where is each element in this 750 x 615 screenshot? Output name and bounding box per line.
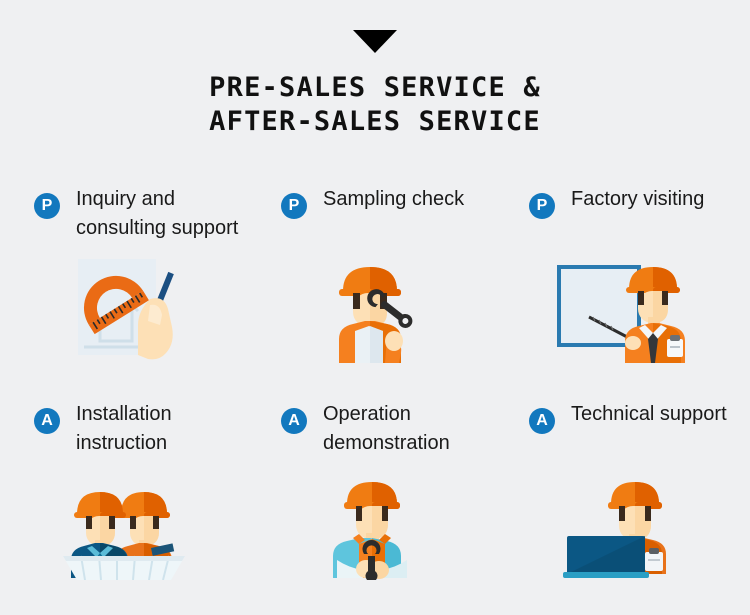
worker-laptop-icon [496, 470, 750, 590]
two-workers-blueprint-icon [0, 470, 248, 590]
triangle-down-icon [353, 30, 397, 53]
page-title-line-1: PRE-SALES SERVICE & [0, 71, 750, 105]
service-label: Factory visiting [571, 185, 704, 214]
status-badge: A [529, 408, 555, 434]
service-item-technical-support[interactable]: A Technical support [496, 400, 750, 600]
status-badge: A [281, 408, 307, 434]
service-item-operation-demonstration[interactable]: A Operation demonstration [248, 400, 496, 600]
page-title-line-2: AFTER-SALES SERVICE [0, 105, 750, 139]
service-item-factory-visiting[interactable]: P Factory visiting [496, 185, 750, 400]
worker-overalls-wrench-icon [248, 470, 496, 590]
service-label: Sampling check [323, 185, 464, 214]
service-label: Operation demonstration [323, 400, 496, 458]
service-header: A Installation instruction [0, 400, 248, 458]
service-header: A Technical support [496, 400, 750, 434]
service-item-inquiry-and-consulting-support[interactable]: P Inquiry and consulting support [0, 185, 248, 400]
worker-with-wrench-icon [248, 255, 496, 375]
page-header: PRE-SALES SERVICE & AFTER-SALES SERVICE [0, 0, 750, 139]
presenter-whiteboard-icon [496, 255, 750, 375]
service-item-installation-instruction[interactable]: A Installation instruction [0, 400, 248, 600]
service-header: A Operation demonstration [248, 400, 496, 458]
services-grid: P Inquiry and consulting support [0, 185, 750, 600]
service-header: P Factory visiting [496, 185, 750, 219]
status-badge: A [34, 408, 60, 434]
page-title: PRE-SALES SERVICE & AFTER-SALES SERVICE [0, 71, 750, 139]
protractor-hand-pencil-icon [0, 255, 248, 375]
service-label: Inquiry and consulting support [76, 185, 248, 243]
status-badge: P [281, 193, 307, 219]
status-badge: P [529, 193, 555, 219]
service-item-sampling-check[interactable]: P Sampling check [248, 185, 496, 400]
status-badge: P [34, 193, 60, 219]
service-header: P Inquiry and consulting support [0, 185, 248, 243]
service-label: Technical support [571, 400, 727, 429]
service-header: P Sampling check [248, 185, 496, 219]
service-label: Installation instruction [76, 400, 248, 458]
